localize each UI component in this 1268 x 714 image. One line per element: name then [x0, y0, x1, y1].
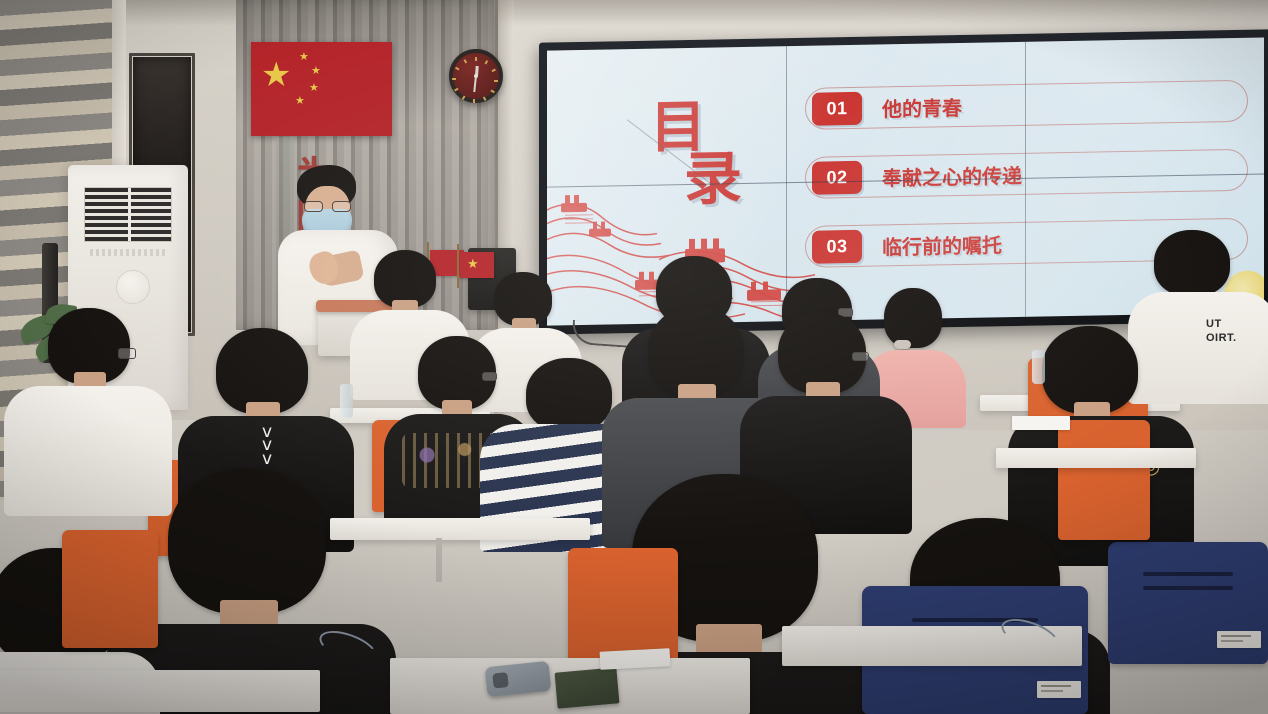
water-bottle-right[interactable] [1032, 350, 1045, 384]
agenda-number-01: 01 [812, 92, 862, 126]
chinese-flag: ★ ★ ★ ★ ★ [251, 42, 392, 136]
hair-tie [894, 340, 911, 349]
slide-title-char-lu: 录 [684, 149, 742, 208]
eyeglasses [482, 372, 497, 381]
booklet-on-desk[interactable] [555, 667, 620, 708]
classroom-scene: ★ ★ ★ ★ ★ 为 国 [0, 0, 1268, 714]
presenter-glasses [303, 201, 352, 212]
agenda-label-02: 奉献之心的传递 [882, 159, 1022, 191]
desk-row-mid [330, 518, 590, 540]
agenda-item-02[interactable]: 02 奉献之心的传递 [805, 149, 1248, 199]
desk-row-front-left [0, 670, 320, 712]
chair-label-tag [1217, 631, 1261, 648]
clock-center-pin [474, 74, 478, 78]
chair-blue-2[interactable] [1108, 542, 1268, 664]
flag-star-large: ★ [261, 58, 291, 92]
chair-label-tag [1037, 681, 1081, 698]
flag-star-4: ★ [295, 96, 305, 107]
slide-title: 目 录 [642, 98, 792, 231]
eyeglasses [118, 348, 136, 359]
shirt-print-text: UT OIRT. [1206, 318, 1237, 346]
clock-minute-hand [473, 76, 477, 93]
ceiling-shadow [0, 0, 1268, 26]
flag-star-3: ★ [309, 83, 319, 94]
desk-leg-mid [436, 538, 442, 582]
agenda-number-02: 02 [812, 161, 862, 195]
eyeglasses [852, 352, 869, 361]
shirt-chevron-print: v v v [262, 426, 271, 466]
audience-area: UT OIRT. v v v [0, 230, 1268, 714]
flag-star-1: ★ [299, 52, 309, 63]
wall-clock [449, 49, 503, 103]
chair-orange-near-2[interactable] [1058, 420, 1150, 540]
agenda-label-01: 他的青春 [882, 91, 962, 121]
paper-sheet-right [1012, 416, 1070, 430]
water-bottle[interactable] [340, 384, 353, 418]
agenda-item-01[interactable]: 01 他的青春 [805, 80, 1248, 130]
flag-star-2: ★ [311, 66, 321, 77]
desk-row-mid-right [996, 448, 1196, 468]
chair-orange-near-3[interactable] [62, 530, 158, 648]
paper-sheet [600, 648, 671, 670]
